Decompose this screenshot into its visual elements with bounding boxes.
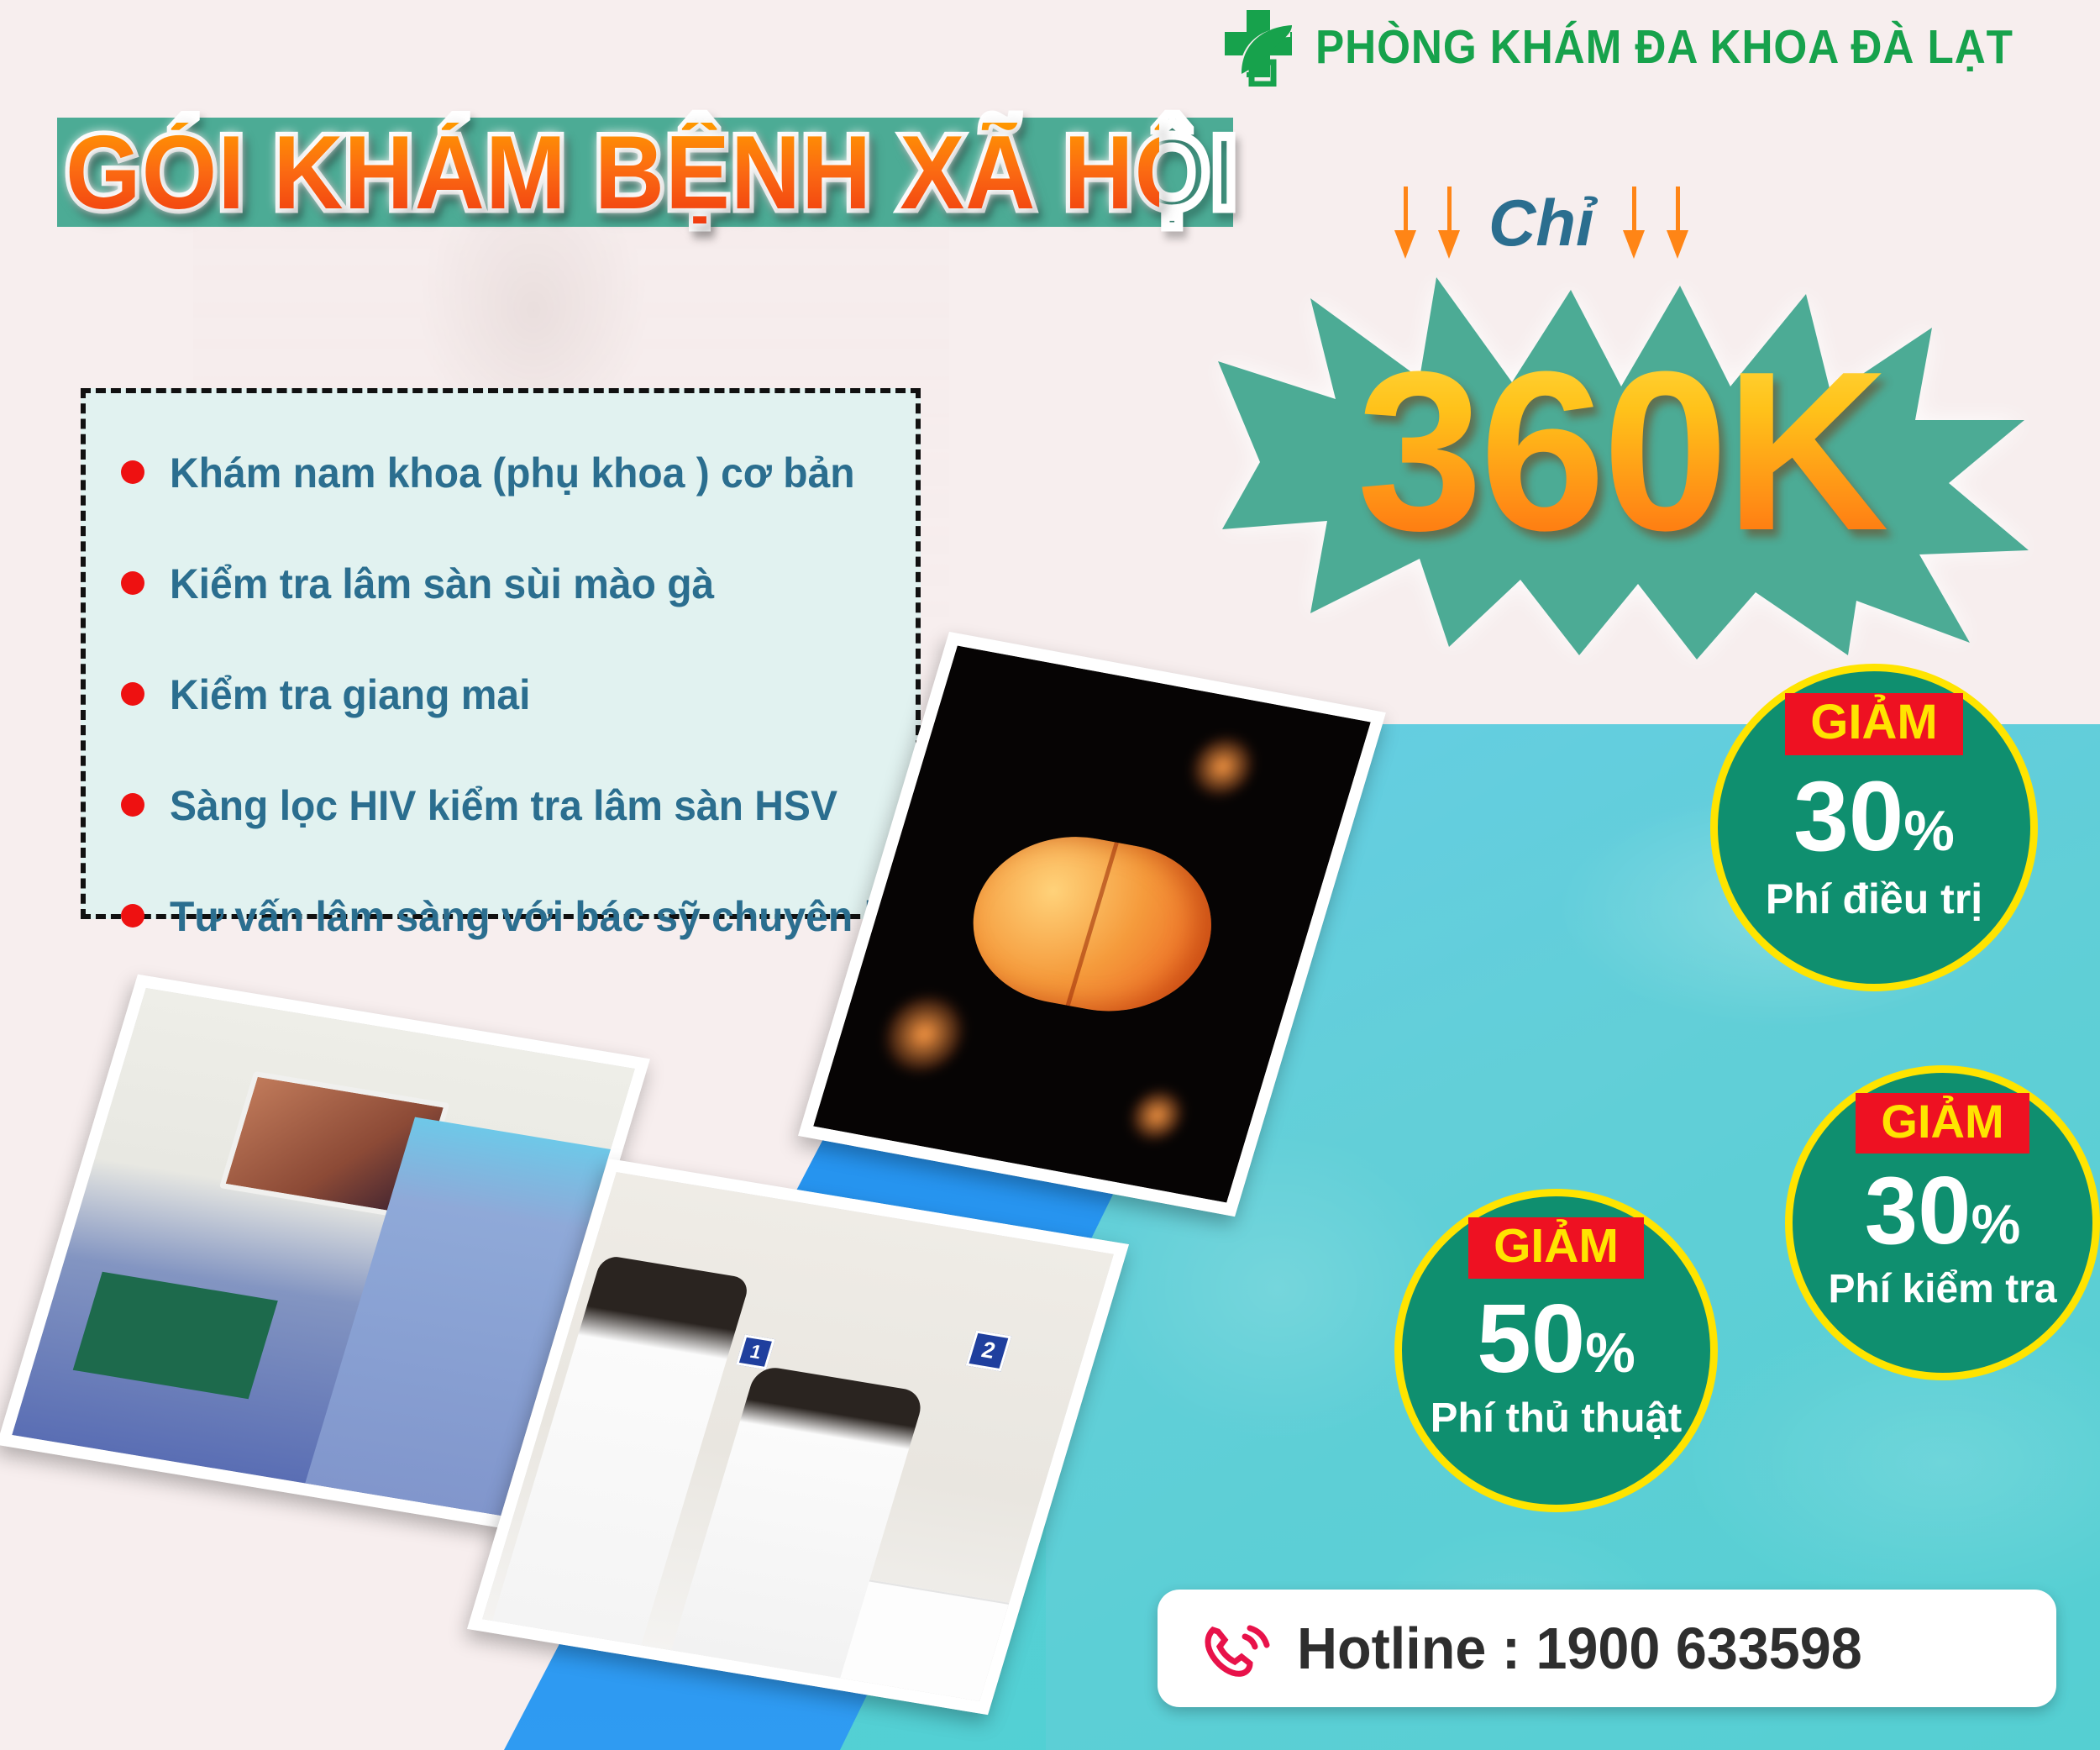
discount-number: 30 (1865, 1164, 1971, 1259)
services-list: Khám nam khoa (phụ khoa ) cơ bản Kiểm tr… (81, 388, 921, 919)
bullet-dot-icon (121, 793, 144, 817)
bullet-dot-icon (121, 682, 144, 706)
service-label: Tư vấn lâm sàng với bác sỹ chuyên khoa (170, 892, 958, 941)
discount-value: 30 % (1865, 1164, 2021, 1259)
discount-label: Phí điều trị (1766, 878, 1982, 920)
list-item: Kiểm tra lâm sàn sùi mào gà (121, 560, 916, 608)
hotline-text: Hotline : 1900 633598 (1297, 1615, 1862, 1682)
discount-badge-checkup: GIẢM 30 % Phí kiểm tra (1785, 1065, 2100, 1380)
percent-symbol: % (1971, 1196, 2021, 1252)
brand-logo: PHÒNG KHÁM ĐA KHOA ĐÀ LẠT (1220, 7, 2091, 87)
percent-symbol: % (1903, 802, 1954, 859)
banner-canvas: PHÒNG KHÁM ĐA KHOA ĐÀ LẠT GÓI KHÁM BỆNH … (0, 0, 2100, 1750)
arrow-down-icon (1438, 187, 1460, 259)
bullet-dot-icon (121, 904, 144, 928)
discount-number: 50 (1477, 1290, 1585, 1387)
discount-tag: GIẢM (1856, 1093, 2029, 1154)
discount-number: 30 (1793, 767, 1903, 866)
price-prefix-row: Chỉ (1394, 187, 1688, 259)
arrow-down-icon (1623, 187, 1645, 259)
arrow-down-icon (1667, 187, 1688, 259)
discount-tag: GIẢM (1785, 693, 1962, 755)
discount-value: 30 % (1793, 767, 1955, 866)
list-item: Kiểm tra giang mai (121, 670, 916, 719)
discount-value: 50 % (1477, 1290, 1635, 1387)
phone-ringing-icon (1194, 1608, 1275, 1689)
list-item: Sàng lọc HIV kiểm tra lâm sàn HSV (121, 781, 916, 830)
medical-cross-leaf-icon (1220, 7, 1297, 87)
list-item: Khám nam khoa (phụ khoa ) cơ bản (121, 449, 916, 497)
discount-badge-treatment: GIẢM 30 % Phí điều trị (1710, 664, 2038, 991)
bullet-dot-icon (121, 460, 144, 484)
brand-name: PHÒNG KHÁM ĐA KHOA ĐÀ LẠT (1315, 19, 2013, 75)
page-title: GÓI KHÁM BỆNH XÃ HỘI (66, 123, 1159, 223)
price-prefix: Chỉ (1488, 189, 1594, 256)
percent-symbol: % (1585, 1325, 1635, 1381)
service-label: Kiểm tra lâm sàn sùi mào gà (170, 560, 714, 608)
discount-badge-procedure: GIẢM 50 % Phí thủ thuật (1394, 1189, 1718, 1512)
price-amount: 360K (1210, 309, 2033, 595)
hotline-bar[interactable]: Hotline : 1900 633598 (1158, 1590, 2056, 1707)
list-item: Tư vấn lâm sàng với bác sỹ chuyên khoa (121, 892, 916, 941)
discount-label: Phí thủ thuật (1431, 1398, 1682, 1439)
service-label: Khám nam khoa (phụ khoa ) cơ bản (170, 449, 855, 497)
service-label: Kiểm tra giang mai (170, 670, 530, 719)
discount-tag: GIẢM (1468, 1217, 1644, 1279)
arrow-down-icon (1394, 187, 1416, 259)
service-label: Sàng lọc HIV kiểm tra lâm sàn HSV (170, 781, 837, 830)
bullet-dot-icon (121, 571, 144, 595)
discount-label: Phí kiểm tra (1828, 1269, 2056, 1310)
